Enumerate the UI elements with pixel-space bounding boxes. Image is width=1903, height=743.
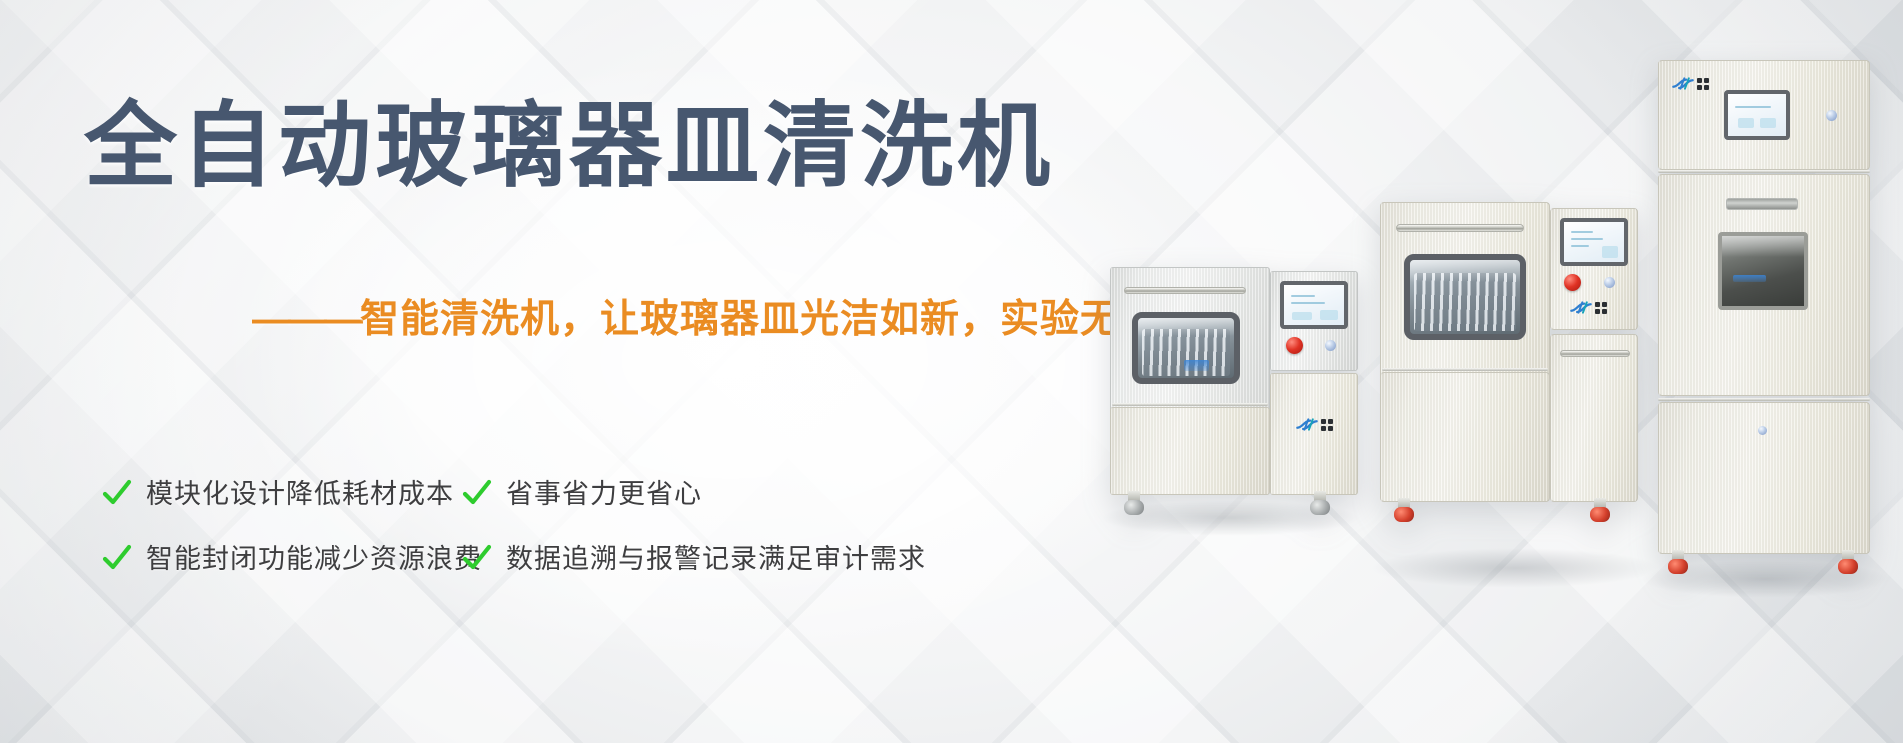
washer-side-cabinet <box>1270 373 1358 495</box>
touchscreen-panel[interactable] <box>1280 281 1348 329</box>
washer-lower-drawer <box>1380 372 1550 502</box>
window-glare <box>1722 236 1804 257</box>
list-item: 省事省力更省心 <box>460 472 920 511</box>
subtitle-dash: ——— <box>252 298 360 341</box>
body-seam <box>1112 403 1268 406</box>
caster-wheel <box>1668 550 1688 574</box>
status-indicator-light <box>1325 340 1336 351</box>
screen-ui-chip <box>1760 118 1776 128</box>
chamber-viewing-window <box>1404 254 1526 340</box>
logo-wordmark-blocks <box>1697 78 1709 90</box>
brand-logo <box>1570 300 1607 315</box>
blue-rack-clips <box>1733 275 1766 283</box>
screen-ui-chip <box>1602 246 1618 258</box>
brushed-steel-grain <box>1111 408 1269 494</box>
screen-ui-line <box>1571 231 1593 233</box>
chamber-viewing-window <box>1132 312 1240 384</box>
brushed-steel-grain <box>1271 374 1357 494</box>
feature-row: 智能封闭功能减少资源浪费 数据追溯与报警记录满足审计需求 <box>100 537 960 576</box>
logo-mark-icon <box>1296 417 1318 432</box>
feature-list: 模块化设计降低耗材成本 省事省力更省心 <box>100 472 960 602</box>
brand-logo <box>1672 76 1709 91</box>
brushed-steel-grain <box>1381 373 1549 501</box>
logo-wordmark-blocks <box>1595 302 1607 314</box>
body-seam <box>1382 368 1548 371</box>
subtitle-text: 智能清洗机，让玻璃器皿光洁如新，实验无忧！ <box>360 298 1200 341</box>
screen-ui-line <box>1571 245 1589 247</box>
caster-wheel <box>1394 498 1414 522</box>
status-indicator-light <box>1604 277 1615 288</box>
blue-rack-clips <box>1184 360 1209 371</box>
emergency-stop-button[interactable] <box>1564 274 1581 291</box>
product-image-tall-cabinet-glassware-washer <box>1650 60 1880 580</box>
cabinet-lock-icon <box>1758 426 1767 435</box>
product-banner: 全自动玻璃器皿清洗机 ———智能清洗机，让玻璃器皿光洁如新，实验无忧！ 模块化设… <box>0 0 1903 743</box>
window-glare <box>1138 318 1234 336</box>
screen-ui-chip <box>1292 312 1312 320</box>
list-item: 模块化设计降低耗材成本 <box>100 472 460 511</box>
body-seam <box>1658 170 1870 173</box>
washer-side-cabinet <box>1550 334 1638 502</box>
check-icon <box>100 476 134 510</box>
logo-wordmark-blocks <box>1321 419 1333 431</box>
check-icon <box>100 541 134 575</box>
caster-wheel <box>1590 498 1610 522</box>
screen-ui-line <box>1735 106 1771 108</box>
emergency-stop-button[interactable] <box>1286 337 1303 354</box>
product-image-benchtop-glassware-washer <box>1110 255 1360 515</box>
product-image-undercounter-glassware-washer <box>1380 188 1640 568</box>
feature-label: 省事省力更省心 <box>506 472 702 511</box>
window-glare <box>1410 260 1520 282</box>
screen-ui-line <box>1291 302 1325 304</box>
caster-wheel <box>1838 550 1858 574</box>
caster-wheel <box>1124 491 1144 515</box>
screen-ui-line <box>1291 295 1315 297</box>
caster-wheel <box>1310 491 1330 515</box>
chamber-viewing-window <box>1718 232 1808 310</box>
screen-ui-chip <box>1320 310 1338 320</box>
body-seam <box>1658 398 1870 401</box>
screen-ui-chip <box>1738 118 1754 128</box>
touchscreen-panel[interactable] <box>1560 218 1628 266</box>
list-item: 数据追溯与报警记录满足审计需求 <box>460 537 920 576</box>
logo-mark-icon <box>1672 76 1694 91</box>
feature-label: 模块化设计降低耗材成本 <box>146 472 454 511</box>
washer-lower-cabinet <box>1658 402 1870 554</box>
page-title: 全自动玻璃器皿清洗机 <box>84 98 1054 195</box>
washer-lower-drawer <box>1110 407 1270 495</box>
copy-block: 全自动玻璃器皿清洗机 ———智能清洗机，让玻璃器皿光洁如新，实验无忧！ 模块化设… <box>0 0 1140 743</box>
touchscreen-panel[interactable] <box>1724 90 1790 140</box>
list-item: 智能封闭功能减少资源浪费 <box>100 537 460 576</box>
feature-row: 模块化设计降低耗材成本 省事省力更省心 <box>100 472 960 511</box>
feature-label: 智能封闭功能减少资源浪费 <box>146 537 482 576</box>
feature-label: 数据追溯与报警记录满足审计需求 <box>506 537 926 576</box>
product-image-group <box>1080 0 1903 743</box>
brushed-steel-grain <box>1551 335 1637 501</box>
air-vent-grille <box>1726 198 1798 210</box>
logo-mark-icon <box>1570 300 1592 315</box>
check-icon <box>460 476 494 510</box>
screen-ui-line <box>1571 238 1603 240</box>
status-indicator-light <box>1826 110 1837 121</box>
brand-logo <box>1296 417 1333 432</box>
door-handle <box>1124 287 1246 294</box>
door-handle <box>1396 224 1524 232</box>
check-icon <box>460 541 494 575</box>
page-subtitle: ———智能清洗机，让玻璃器皿光洁如新，实验无忧！ <box>252 288 1200 344</box>
drawer-handle <box>1560 350 1630 357</box>
